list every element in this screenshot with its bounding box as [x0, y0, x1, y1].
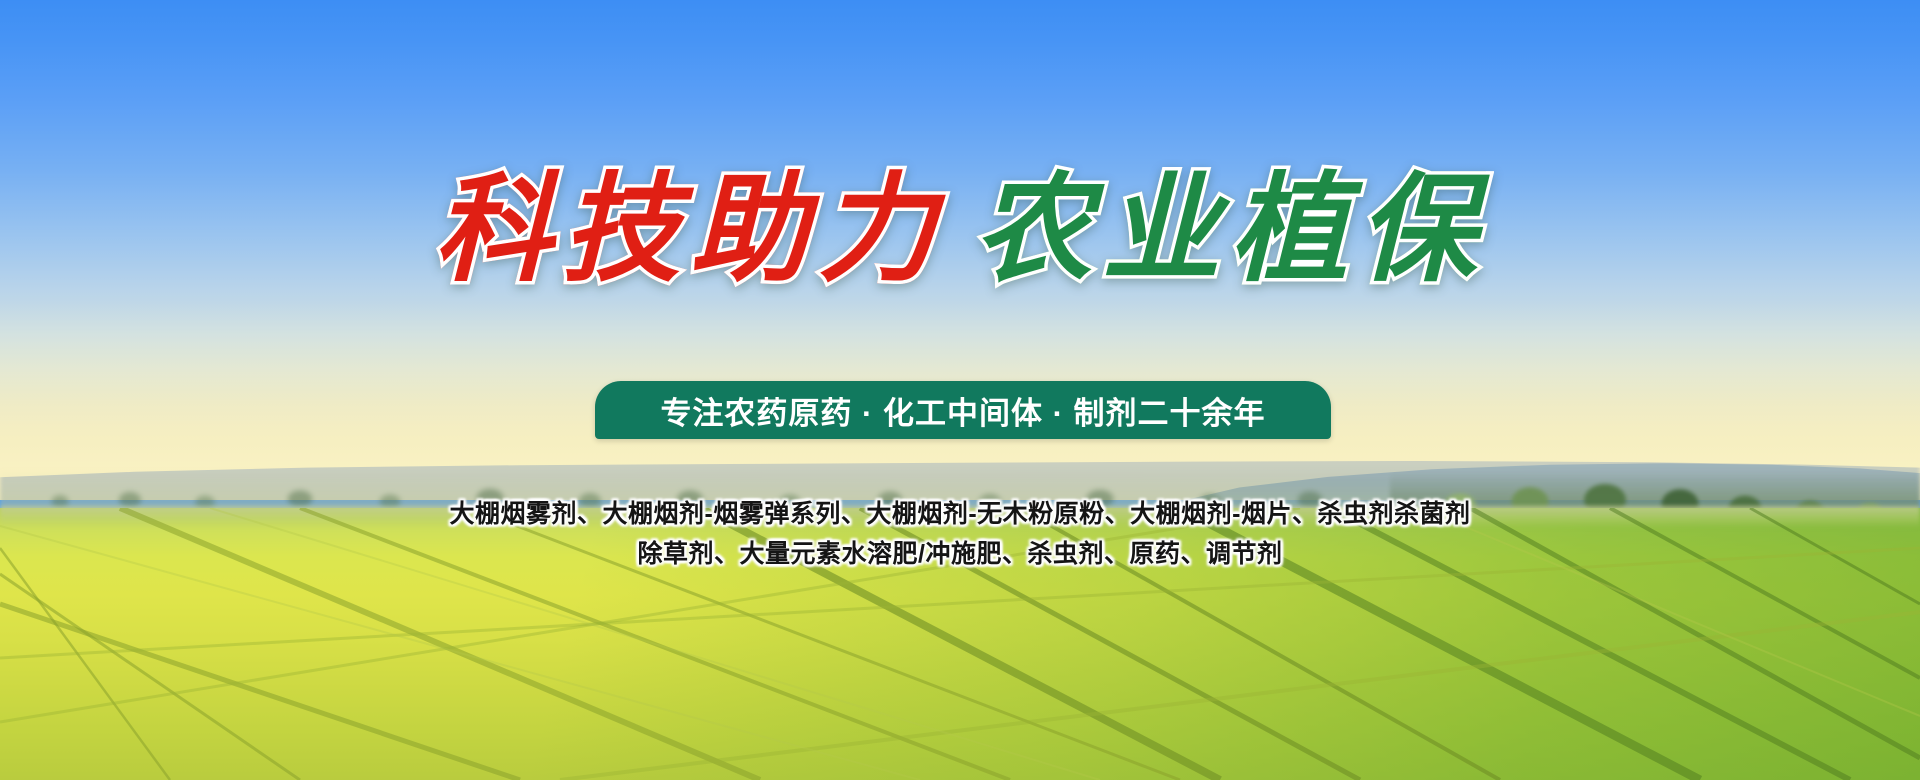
- subtitle-pill: 专注农药原药 · 化工中间体 · 制剂二十余年: [595, 381, 1331, 439]
- page-title-green-part: 农业植保: [974, 168, 1486, 291]
- hero-banner: 科技助力农业植保 专注农药原药 · 化工中间体 · 制剂二十余年 大棚烟雾剂、大…: [0, 0, 1920, 780]
- subtitle-pill-label: 专注农药原药 · 化工中间体 · 制剂二十余年: [660, 388, 1265, 433]
- product-line-1: 大棚烟雾剂、大棚烟剂-烟雾弹系列、大棚烟剂-无木粉原粉、大棚烟剂-烟片、杀虫剂杀…: [0, 494, 1920, 534]
- product-line-2: 除草剂、大量元素水溶肥/冲施肥、杀虫剂、原药、调节剂: [0, 534, 1920, 574]
- page-title: 科技助力农业植保: [0, 168, 1920, 291]
- page-title-red-part: 科技助力: [434, 168, 946, 291]
- product-list: 大棚烟雾剂、大棚烟剂-烟雾弹系列、大棚烟剂-无木粉原粉、大棚烟剂-烟片、杀虫剂杀…: [0, 494, 1920, 574]
